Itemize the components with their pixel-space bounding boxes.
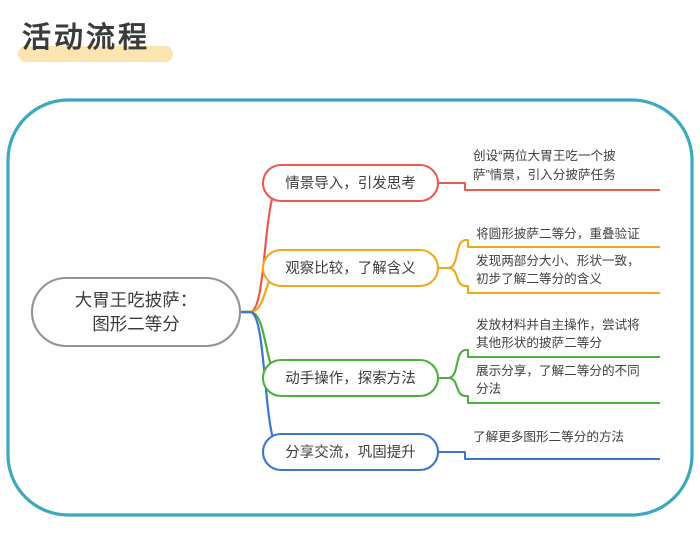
- root-node[interactable]: 大胃王吃披萨： 图形二等分: [32, 278, 240, 346]
- branch-node-3-label: 动手操作，探索方法: [285, 370, 416, 387]
- branch-3-group: 动手操作，探索方法 发放材料并自主操作，尝试将 其他形状的披萨二等分 展示分享，…: [263, 317, 660, 403]
- connector-branch-3-leaf-1: [438, 350, 468, 378]
- mindmap-page: 活动流程 大胃王吃披萨： 图形二等分 情景导入，引发思考: [0, 0, 700, 553]
- leaf-node-3-2-line1: 展示分享，了解二等分的不同: [476, 363, 640, 378]
- root-node-shape: [32, 278, 240, 346]
- leaf-node-1-1-line2: 萨”情景，引入分披萨任务: [473, 167, 616, 182]
- branch-1-group: 情景导入，引发思考 创设“两位大胃王吃一个披 萨”情景，引入分披萨任务: [263, 148, 660, 201]
- branch-node-3[interactable]: 动手操作，探索方法: [263, 360, 438, 396]
- leaf-node-4-1[interactable]: 了解更多图形二等分的方法: [473, 429, 624, 444]
- leaf-node-3-1[interactable]: 发放材料并自主操作，尝试将 其他形状的披萨二等分: [476, 317, 640, 350]
- leaf-node-3-1-line2: 其他形状的披萨二等分: [476, 335, 602, 350]
- branch-node-1[interactable]: 情景导入，引发思考: [263, 165, 438, 201]
- leaf-underline-3-1: [468, 350, 660, 357]
- leaf-underline-2-1: [468, 240, 660, 247]
- branch-node-4[interactable]: 分享交流，巩固提升: [263, 434, 438, 470]
- mindmap-canvas: 大胃王吃披萨： 图形二等分 情景导入，引发思考 创设“两位大胃王吃一个披 萨”情…: [0, 0, 700, 553]
- leaf-node-2-2[interactable]: 发现两部分大小、形状一致， 初步了解二等分的含义: [476, 253, 640, 286]
- leaf-underline-1-1: [465, 183, 660, 190]
- root-node-line2: 图形二等分: [92, 314, 180, 334]
- leaf-node-2-1[interactable]: 将圆形披萨二等分，重叠验证: [476, 226, 640, 241]
- connector-root-branch-1: [240, 183, 286, 312]
- leaf-node-1-1[interactable]: 创设“两位大胃王吃一个披 萨”情景，引入分披萨任务: [473, 148, 616, 182]
- leaf-node-2-1-line1: 将圆形披萨二等分，重叠验证: [476, 226, 640, 241]
- leaf-node-2-2-line1: 发现两部分大小、形状一致，: [476, 253, 640, 268]
- connector-branch-2-leaf-1: [438, 240, 468, 268]
- leaf-node-1-1-line1: 创设“两位大胃王吃一个披: [473, 148, 616, 163]
- connector-branch-2-leaf-2: [438, 268, 468, 286]
- branch-node-2[interactable]: 观察比较，了解含义: [263, 250, 438, 286]
- leaf-node-3-2[interactable]: 展示分享，了解二等分的不同 分法: [476, 363, 640, 396]
- branch-2-group: 观察比较，了解含义 将圆形披萨二等分，重叠验证 发现两部分大小、形状一致， 初步…: [263, 226, 660, 293]
- leaf-node-3-1-line1: 发放材料并自主操作，尝试将: [476, 317, 640, 332]
- branch-node-4-label: 分享交流，巩固提升: [285, 443, 416, 461]
- connector-branch-3-leaf-2: [438, 378, 468, 396]
- branch-4-group: 分享交流，巩固提升 了解更多图形二等分的方法: [263, 429, 660, 470]
- root-node-line1: 大胃王吃披萨：: [75, 290, 198, 310]
- branch-node-2-label: 观察比较，了解含义: [285, 259, 416, 277]
- leaf-underline-3-2: [468, 396, 660, 403]
- leaf-underline-4-1: [465, 452, 660, 459]
- leaf-node-4-1-line1: 了解更多图形二等分的方法: [473, 429, 624, 444]
- branch-node-1-label: 情景导入，引发思考: [285, 175, 416, 192]
- leaf-node-3-2-line2: 分法: [476, 382, 501, 396]
- leaf-underline-2-2: [468, 286, 660, 293]
- leaf-node-2-2-line2: 初步了解二等分的含义: [476, 271, 602, 286]
